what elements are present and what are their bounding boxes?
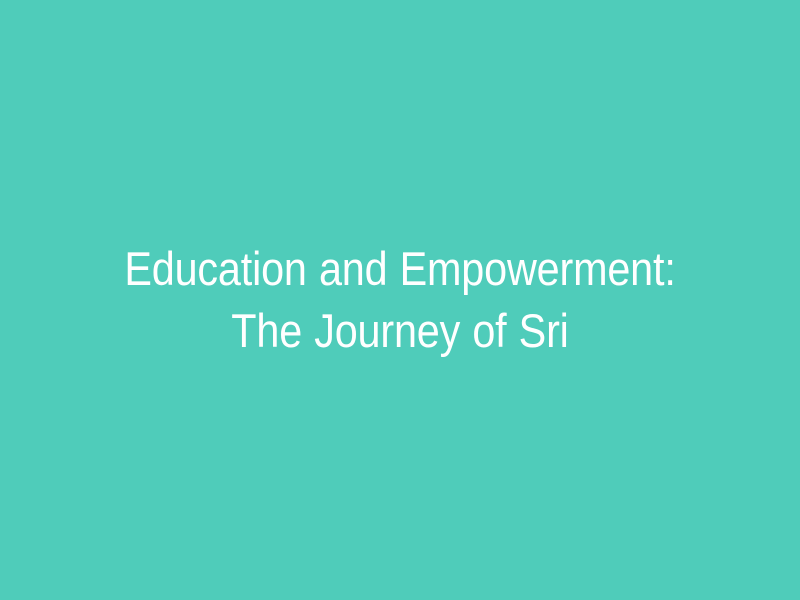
title-block: Education and Empowerment: The Journey o… — [64, 238, 736, 362]
title-card: Education and Empowerment: The Journey o… — [0, 0, 800, 600]
page-title: Education and Empowerment: The Journey o… — [104, 238, 695, 362]
